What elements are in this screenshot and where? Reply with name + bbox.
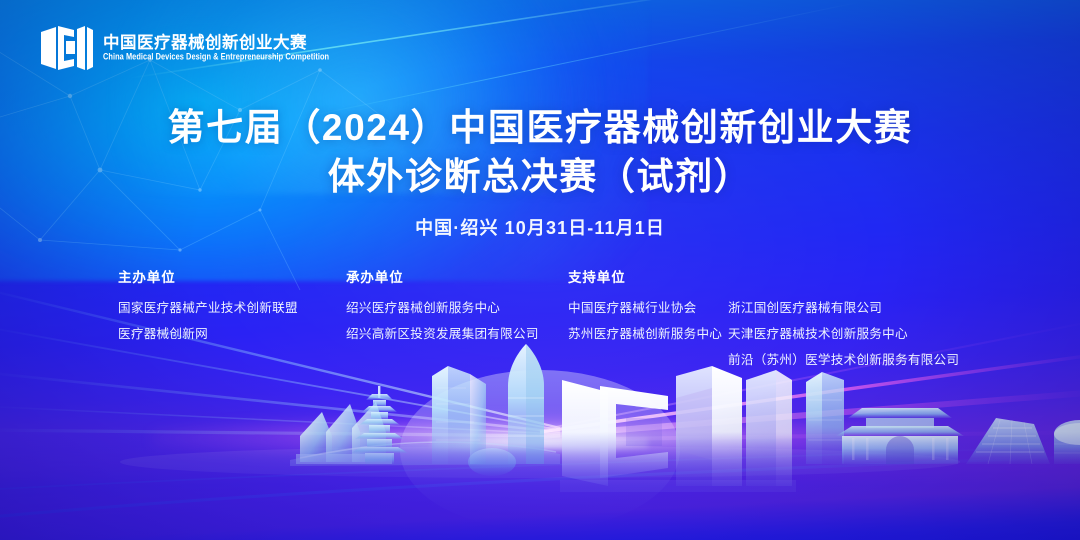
support-item: 苏州医疗器械创新服务中心 (568, 321, 728, 347)
support-item: 中国医疗器械行业协会 (568, 295, 728, 321)
support-extra-item: 前沿（苏州）医学技术创新服务有限公司 (728, 347, 978, 373)
header-logo-text: 中国医疗器械创新创业大赛 China Medical Devices Desig… (103, 35, 329, 62)
organizer-column-organizer: 承办单位 绍兴医疗器械创新服务中心 绍兴高新区投资发展集团有限公司 (346, 266, 568, 347)
support-extra-item: 天津医疗器械技术创新服务中心 (728, 321, 978, 347)
header-logo: 中国医疗器械创新创业大赛 China Medical Devices Desig… (40, 24, 329, 72)
organizer-heading: 承办单位 (346, 266, 568, 286)
support-heading: 支持单位 (568, 266, 728, 286)
poster-canvas: 中国医疗器械创新创业大赛 China Medical Devices Desig… (0, 0, 1080, 540)
host-item: 国家医疗器械产业技术创新联盟 (118, 295, 346, 321)
organizer-item: 绍兴医疗器械创新服务中心 (346, 295, 568, 321)
organizer-column-host: 主办单位 国家医疗器械产业技术创新联盟 医疗器械创新网 (118, 266, 346, 347)
support-extra-item: 浙江国创医疗器械有限公司 (728, 295, 978, 321)
competition-door-logo-icon (40, 24, 94, 72)
title-block: 第七届（2024）中国医疗器械创新创业大赛 体外诊断总决赛（试剂） 中国·绍兴 … (0, 104, 1080, 240)
host-heading: 主办单位 (118, 266, 346, 286)
header-logo-title-cn: 中国医疗器械创新创业大赛 (103, 35, 329, 53)
poster-title-line1: 第七届（2024）中国医疗器械创新创业大赛 (0, 104, 1080, 153)
poster-subtitle-location-date: 中国·绍兴 10月31日-11月1日 (0, 214, 1080, 240)
organizer-column-support-extra: 支持单位 浙江国创医疗器械有限公司 天津医疗器械技术创新服务中心 前沿（苏州）医… (728, 266, 978, 373)
organizer-column-support: 支持单位 中国医疗器械行业协会 苏州医疗器械创新服务中心 (568, 266, 728, 347)
poster-title-line2: 体外诊断总决赛（试剂） (0, 153, 1080, 202)
organizer-item: 绍兴高新区投资发展集团有限公司 (346, 321, 568, 347)
organizer-columns: 主办单位 国家医疗器械产业技术创新联盟 医疗器械创新网 承办单位 绍兴医疗器械创… (118, 266, 1008, 373)
host-item: 医疗器械创新网 (118, 321, 346, 347)
header-logo-title-en: China Medical Devices Design & Entrepren… (103, 53, 329, 63)
